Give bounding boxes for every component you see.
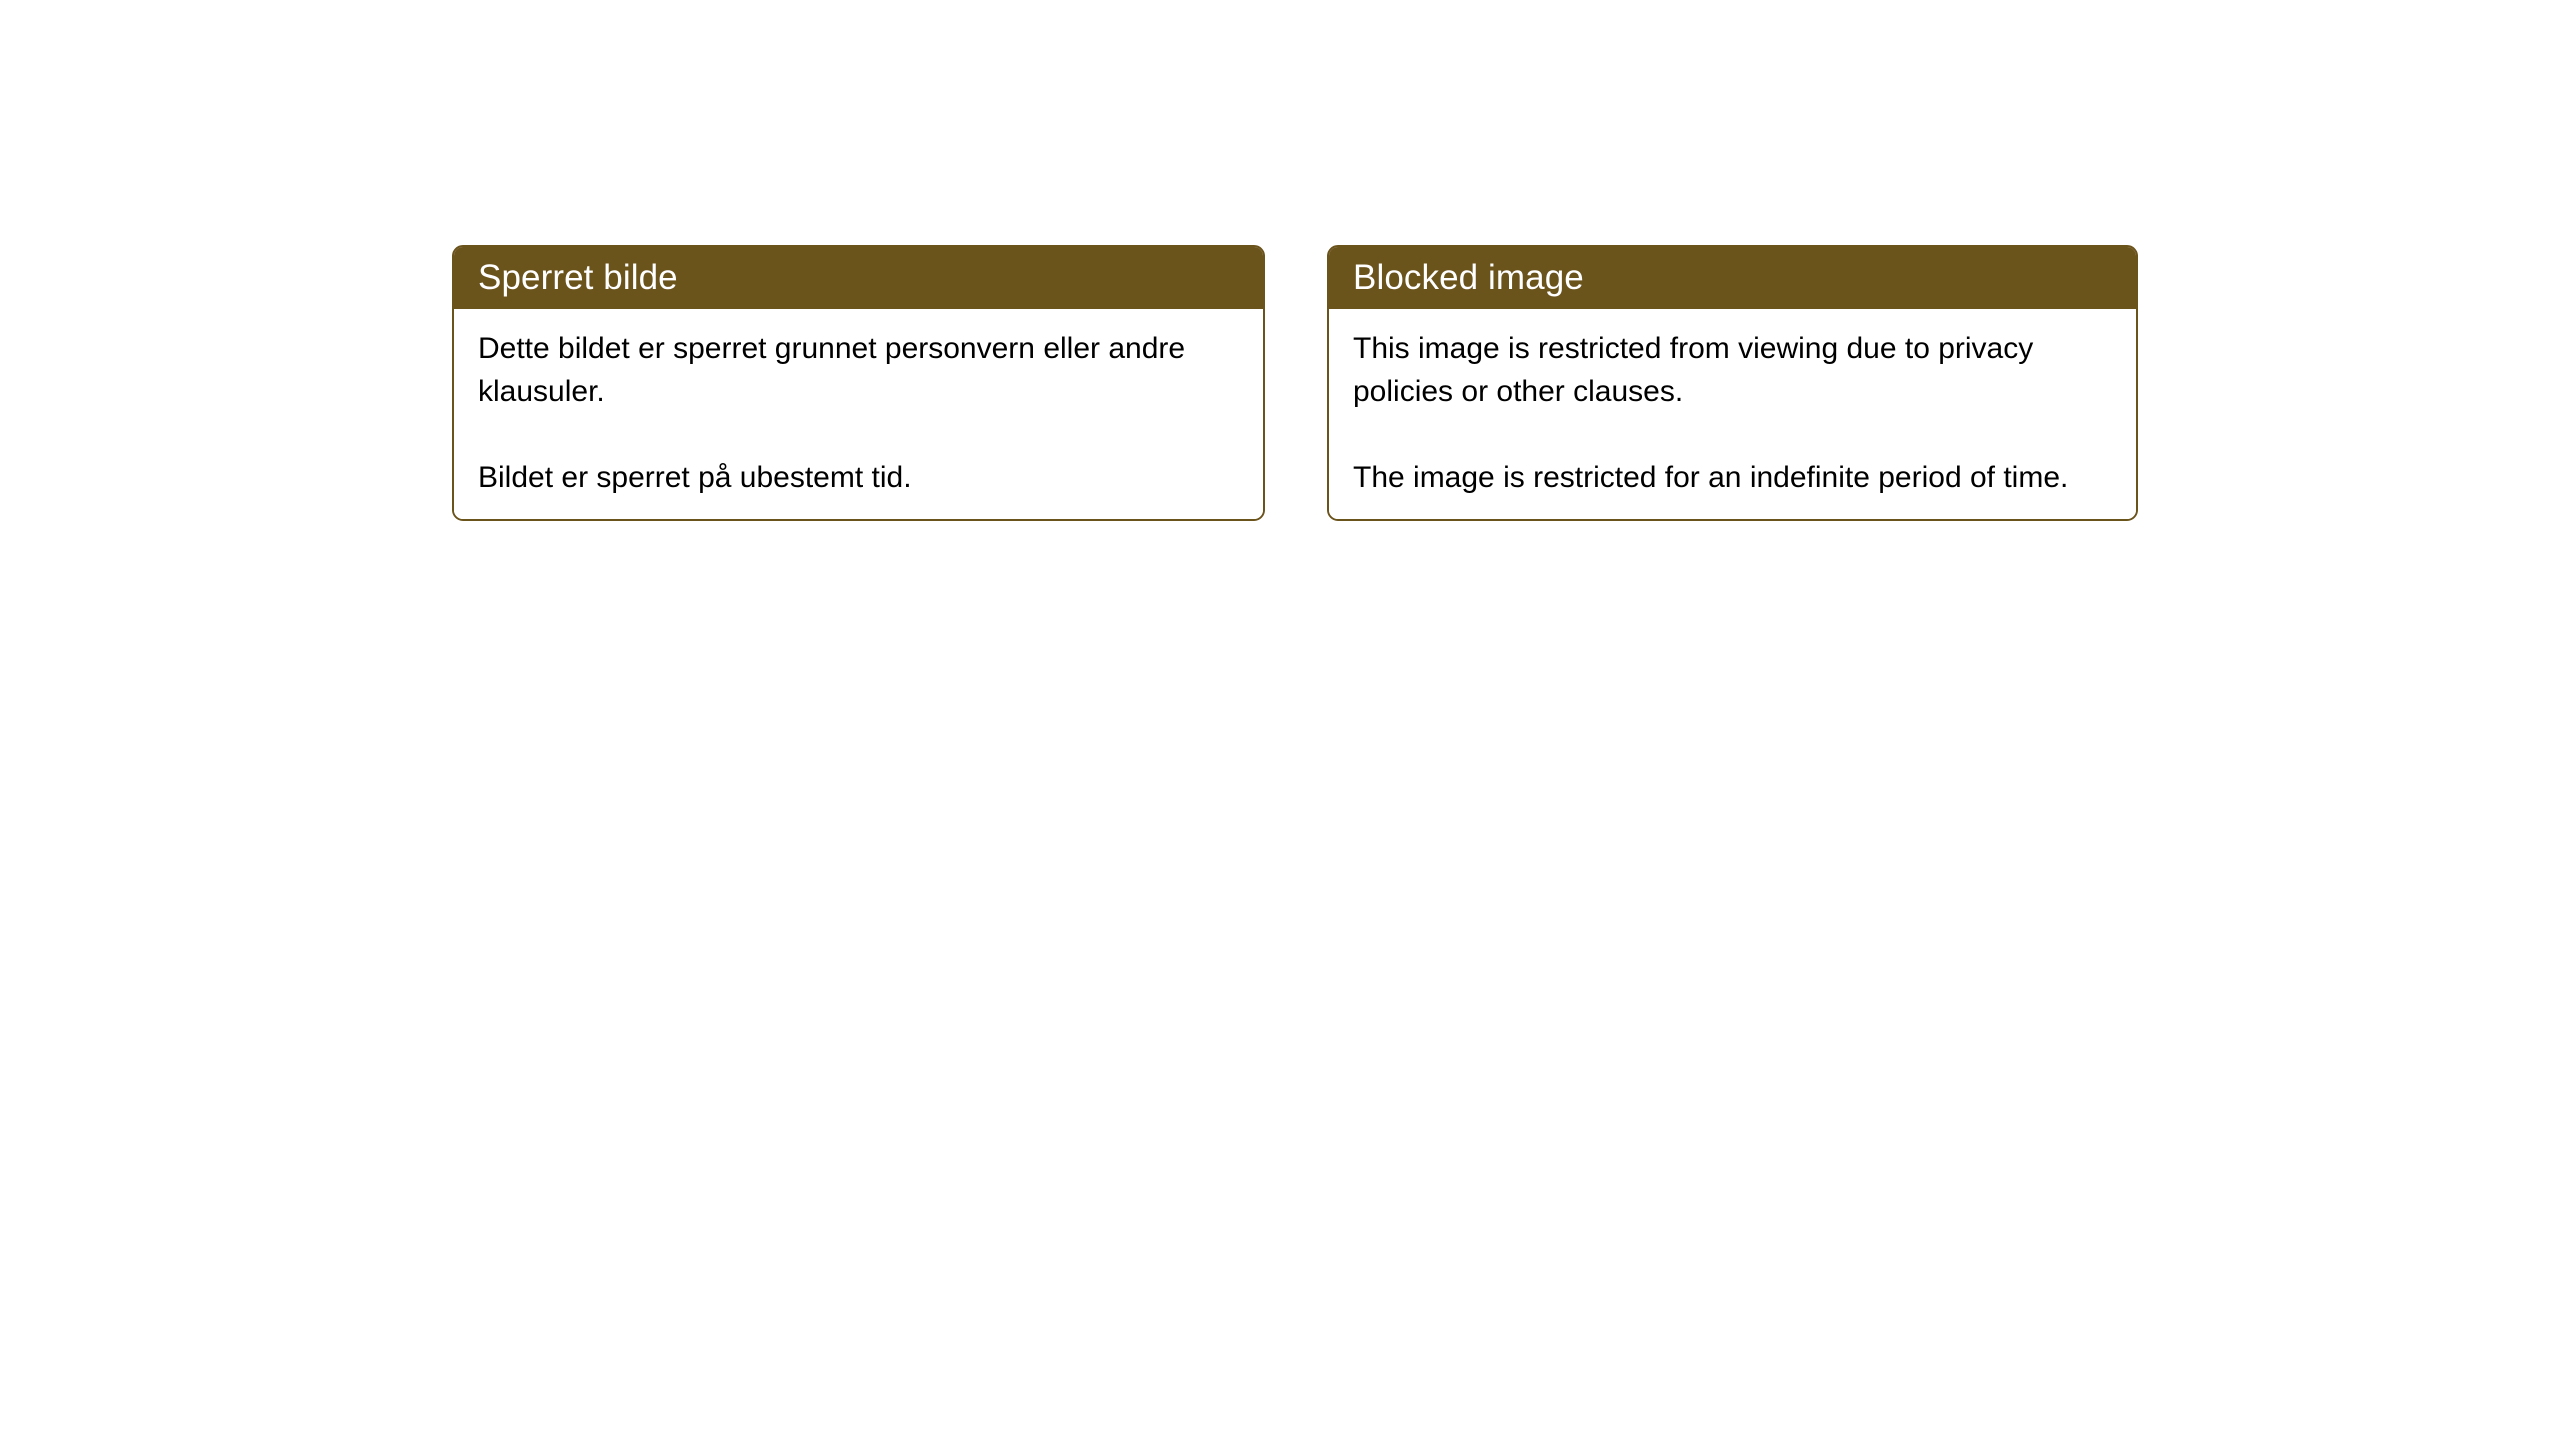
notice-title-norwegian: Sperret bilde	[454, 247, 1263, 309]
notice-title-english: Blocked image	[1329, 247, 2136, 309]
blocked-image-notice-group: Sperret bilde Dette bildet er sperret gr…	[452, 245, 2138, 521]
notice-paragraph: Dette bildet er sperret grunnet personve…	[478, 327, 1198, 413]
paragraph-spacer	[478, 413, 1239, 456]
notice-paragraph: This image is restricted from viewing du…	[1353, 327, 2073, 413]
notice-body-english: This image is restricted from viewing du…	[1329, 309, 2136, 519]
blocked-image-notice-card-norwegian: Sperret bilde Dette bildet er sperret gr…	[452, 245, 1265, 521]
notice-paragraph: Bildet er sperret på ubestemt tid.	[478, 456, 1198, 499]
page-canvas: Sperret bilde Dette bildet er sperret gr…	[0, 0, 2560, 1440]
notice-paragraph: The image is restricted for an indefinit…	[1353, 456, 2073, 499]
notice-body-norwegian: Dette bildet er sperret grunnet personve…	[454, 309, 1263, 519]
paragraph-spacer	[1353, 413, 2112, 456]
blocked-image-notice-card-english: Blocked image This image is restricted f…	[1327, 245, 2138, 521]
